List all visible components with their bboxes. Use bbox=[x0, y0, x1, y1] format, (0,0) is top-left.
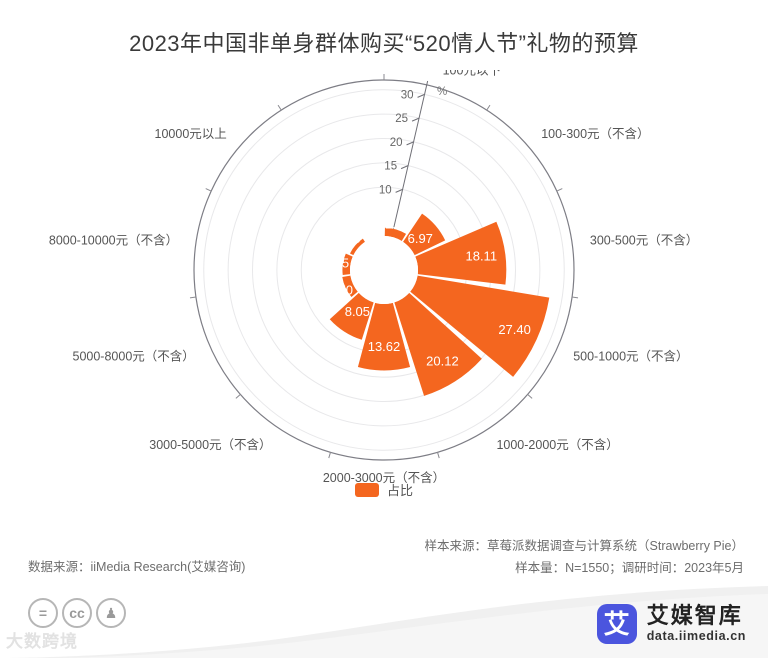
chart-legend[interactable]: 占比 bbox=[0, 480, 768, 499]
license-icons: = cc ♟ bbox=[28, 598, 126, 628]
person-icon: ♟ bbox=[96, 598, 126, 628]
category-label: 100-300元（不含） bbox=[541, 126, 649, 141]
brand-url: data.iimedia.cn bbox=[647, 630, 746, 644]
brand-logo[interactable]: 艾 艾媒智库 data.iimedia.cn bbox=[597, 604, 746, 644]
sector-value-label: 13.62 bbox=[368, 339, 401, 354]
sector-value-label: 20.12 bbox=[426, 353, 459, 368]
sample-source-text: 样本来源：草莓派数据调查与计算系统（Strawberry Pie） bbox=[425, 536, 744, 558]
sector-value-label: 27.40 bbox=[498, 322, 531, 337]
watermark-text: 大数跨境 bbox=[6, 627, 78, 652]
chart-center-hub bbox=[350, 236, 418, 304]
legend-label: 占比 bbox=[387, 480, 413, 499]
cc-icon: cc bbox=[62, 598, 92, 628]
page-title: 2023年中国非单身群体购买“520情人节”礼物的预算 bbox=[0, 26, 768, 58]
sector-value-label: 1.55 bbox=[324, 256, 349, 271]
sector-value-label: 8.05 bbox=[345, 304, 370, 319]
polar-rose-chart: 1015202530 100元以下100-300元（不含）300-500元（不含… bbox=[0, 70, 768, 500]
sector-value-label: 1.70 bbox=[385, 216, 410, 231]
brand-text: 艾媒智库 data.iimedia.cn bbox=[647, 604, 746, 644]
category-label: 5000-8000元（不含） bbox=[73, 348, 195, 363]
radial-tick-label: 25 bbox=[395, 113, 408, 125]
radial-tick-label: 30 bbox=[401, 89, 414, 101]
sector-value-label: 6.97 bbox=[408, 231, 433, 246]
chart-svg: 1015202530 100元以下100-300元（不含）300-500元（不含… bbox=[0, 70, 768, 500]
sample-info: 样本来源：草莓派数据调查与计算系统（Strawberry Pie） 样本量：N=… bbox=[425, 536, 744, 580]
radial-tick-label: 10 bbox=[379, 184, 392, 196]
category-label: 10000元以上 bbox=[155, 127, 227, 141]
data-source-text: 数据来源：iiMedia Research(艾媒咨询) bbox=[28, 556, 245, 575]
category-label: 300-500元（不含） bbox=[590, 232, 698, 247]
category-label: 1000-2000元（不含） bbox=[496, 437, 618, 452]
brand-mark-icon: 艾 bbox=[597, 604, 637, 644]
category-label: 8000-10000元（不含） bbox=[49, 232, 178, 247]
category-label: 3000-5000元（不含） bbox=[149, 437, 271, 452]
radial-tick-label: 20 bbox=[390, 137, 403, 149]
sector-value-label: 0.78 bbox=[335, 231, 360, 246]
category-label: 500-1000元（不含） bbox=[573, 348, 688, 363]
category-label: 100元以下 bbox=[443, 70, 501, 77]
equals-icon: = bbox=[28, 598, 58, 628]
legend-swatch bbox=[355, 483, 379, 497]
axis-unit-label: % bbox=[437, 86, 447, 98]
sector-value-label: 18.11 bbox=[465, 249, 497, 264]
sector-value-label: 1.70 bbox=[328, 282, 353, 297]
sample-size-text: 样本量：N=1550；调研时间：2023年5月 bbox=[425, 558, 744, 580]
radial-tick-label: 15 bbox=[384, 161, 397, 173]
brand-name: 艾媒智库 bbox=[647, 604, 746, 628]
chart-page: 2023年中国非单身群体购买“520情人节”礼物的预算 1015202530 1… bbox=[0, 0, 768, 658]
